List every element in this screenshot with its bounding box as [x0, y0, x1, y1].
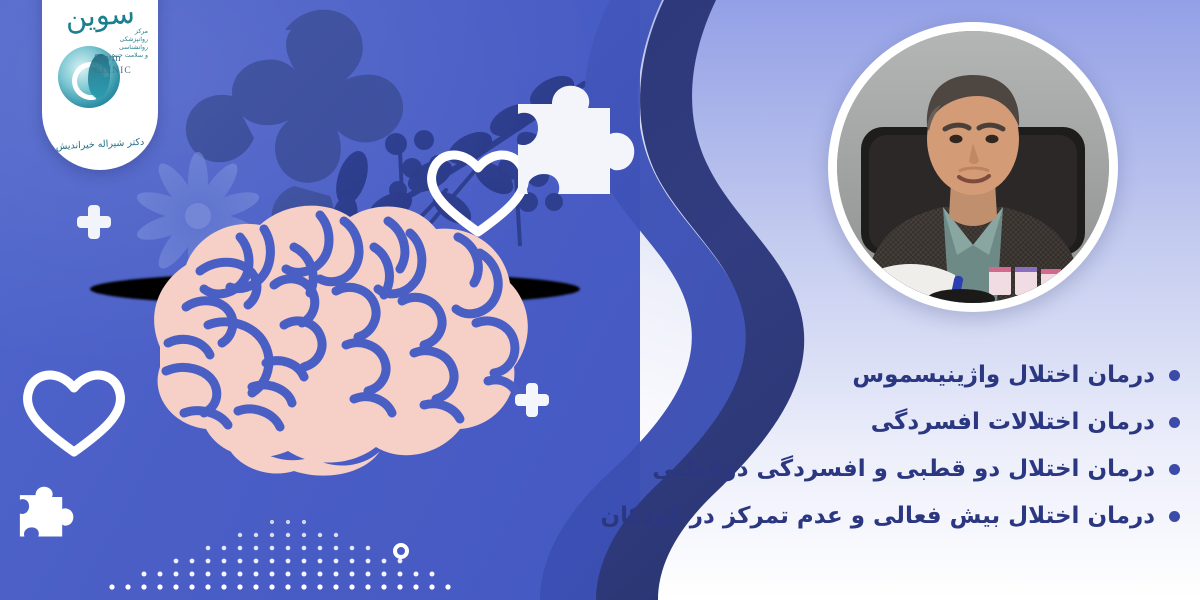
- logo-brand-en: Sevin CLINIC: [94, 52, 152, 77]
- logo-doctor-name-fa: دکتر شیراله خیراندیش: [50, 136, 150, 152]
- clinic-logo-card[interactable]: سوین مرکز روانپزشکی روانشناسی و سلامت جن…: [42, 0, 158, 170]
- plus-icon: [515, 383, 549, 417]
- doctor-portrait: [828, 22, 1118, 312]
- bullet-icon: [1169, 464, 1180, 475]
- list-item[interactable]: درمان اختلال دو قطبی و افسردگی دوقطبی: [580, 446, 1180, 493]
- list-item[interactable]: درمان اختلال بیش فعالی و عدم تمرکز در کو…: [580, 493, 1180, 540]
- bullet-icon: [1169, 370, 1180, 381]
- doctor-portrait-image: [837, 31, 1109, 303]
- list-item[interactable]: درمان اختلالات افسردگی: [580, 399, 1180, 446]
- heart-outline-icon: [28, 375, 121, 452]
- logo-brand-en-sub: CLINIC: [94, 66, 132, 76]
- service-label: درمان اختلال دو قطبی و افسردگی دوقطبی: [652, 458, 1155, 481]
- puzzle-piece-icon: [518, 86, 634, 194]
- services-list: درمان اختلال واژینیسموس درمان اختلالات ا…: [580, 352, 1180, 540]
- dot-grid-triangle: [100, 516, 460, 600]
- service-label: درمان اختلال واژینیسموس: [852, 364, 1155, 387]
- bullet-icon: [1169, 417, 1180, 428]
- plus-icon: [77, 205, 111, 239]
- logo-brand-en-main: Sevin: [94, 52, 121, 64]
- list-item[interactable]: درمان اختلال واژینیسموس: [580, 352, 1180, 399]
- heart-outline-icon: [432, 155, 525, 232]
- service-label: درمان اختلال بیش فعالی و عدم تمرکز در کو…: [601, 505, 1155, 528]
- bullet-icon: [1169, 511, 1180, 522]
- service-label: درمان اختلالات افسردگی: [871, 411, 1155, 434]
- banner-canvas: سوین مرکز روانپزشکی روانشناسی و سلامت جن…: [0, 0, 1200, 600]
- puzzle-piece-icon: [20, 487, 73, 537]
